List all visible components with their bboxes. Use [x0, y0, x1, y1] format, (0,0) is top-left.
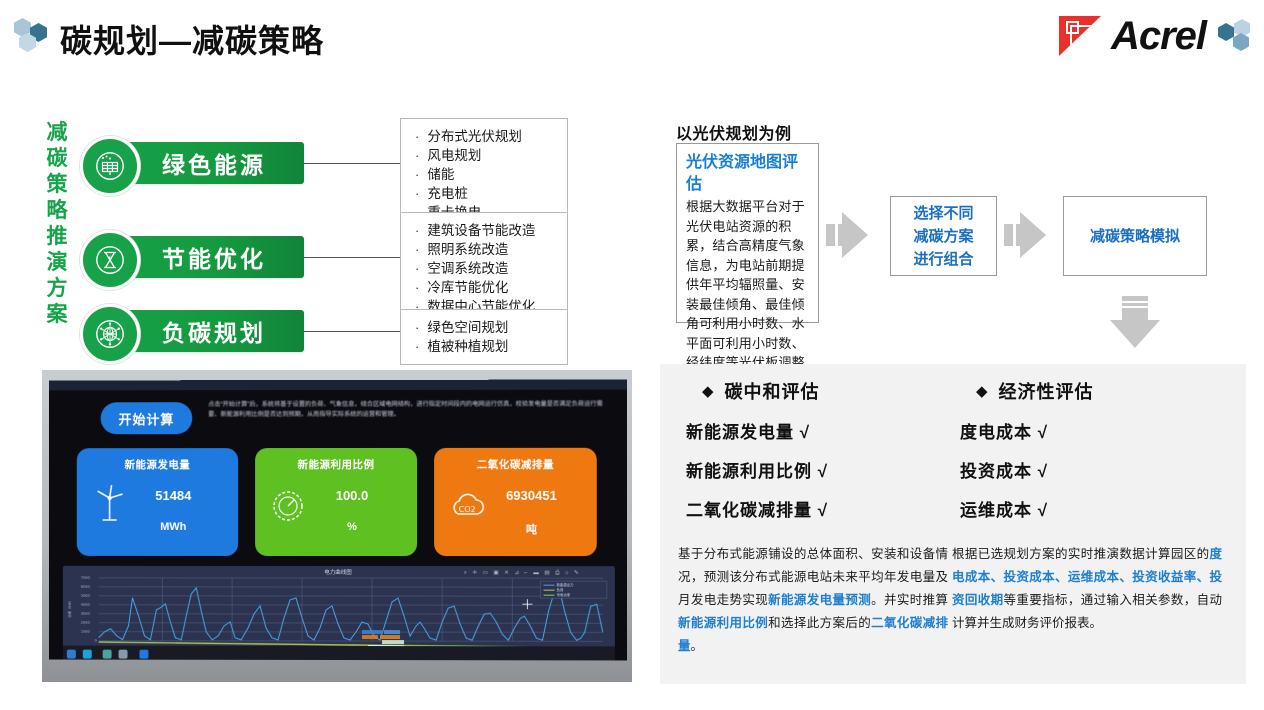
- evaluation-panel: ◆ 碳中和评估 新能源发电量 √ 新能源利用比例 √ 二氧化碳减排量 √ 基于分…: [660, 364, 1246, 684]
- svg-text:CO2: CO2: [459, 505, 476, 514]
- chart-toolbar[interactable]: ⌕ ✛ ▭ ▣ ✕ ⊿ ⌐ ▬ ▤ ⎙ ⌂ ✎: [464, 570, 581, 577]
- strategy-vertical-label: 减碳策略推演方案: [44, 120, 70, 328]
- list-item: ·照明系统改造: [415, 240, 557, 259]
- flow-step-heading: 光伏资源地图评估: [686, 152, 809, 196]
- power-curve-chart: 电力曲线图 ⌕ ✛ ▭ ▣ ✕ ⊿ ⌐ ▬ ▤ ⎙ ⌂ ✎: [63, 566, 615, 661]
- list-item-label: 照明系统改造: [427, 240, 508, 259]
- list-item: ·空调系统改造: [415, 259, 557, 278]
- bullet-dot-icon: ·: [415, 240, 419, 259]
- evaluation-column-carbon: ◆ 碳中和评估 新能源发电量 √ 新能源利用比例 √ 二氧化碳减排量 √ 基于分…: [678, 378, 948, 658]
- paragraph-text: 。并实时推算: [871, 593, 948, 607]
- kpi-card-co2-reduction: 二氧化碳减排量 CO2 6930451 吨: [434, 448, 597, 556]
- brand-name: Acrel: [1111, 14, 1206, 59]
- bullet-list: ·绿色空间规划 ·植被种植规划: [415, 318, 557, 356]
- globe-network-icon: [80, 304, 140, 364]
- kpi-unit: MWh: [160, 521, 186, 533]
- strategy-bar-label: 绿色能源: [154, 146, 304, 180]
- kpi-value: 6930451: [506, 488, 557, 503]
- monitor-photo: 开始计算 点击“开始计算”后，系统将基于设置的负荷、气象信息，结合区域电网结构，…: [42, 370, 632, 682]
- windows-taskbar[interactable]: [63, 646, 615, 661]
- strategy-bar-label: 负碳规划: [154, 314, 304, 348]
- evaluation-item: 运维成本 √: [960, 496, 1222, 521]
- brand-logo: Acrel: [1059, 12, 1252, 60]
- evaluation-item: 度电成本 √: [960, 418, 1222, 443]
- hexagon-cluster-icon: [14, 18, 54, 52]
- svg-text:0: 0: [95, 639, 98, 643]
- co2-cloud-icon: CO2: [448, 482, 486, 526]
- monitor-screen: 开始计算 点击“开始计算”后，系统将基于设置的负荷、气象信息，结合区域电网结构，…: [49, 380, 627, 661]
- evaluation-paragraph: 基于分布式能源铺设的总体面积、安装和设备情况，预测该分布式能源电站未来平均年发电…: [678, 543, 948, 658]
- kpi-unit: %: [347, 521, 357, 533]
- bullet-dot-icon: ·: [415, 221, 419, 240]
- evaluation-heading-label: 经济性评估: [999, 378, 1094, 404]
- list-item-label: 植被种植规划: [427, 337, 508, 356]
- flow-step-line: 进行组合: [913, 248, 973, 271]
- evaluation-heading: ◆ 碳中和评估: [702, 378, 948, 404]
- bullet-list: ·分布式光伏规划 ·风电规划 ·储能 ·充电桩 ·重卡换电: [415, 127, 557, 222]
- bullet-dot-icon: ·: [415, 278, 419, 297]
- svg-text:负荷: 负荷: [557, 587, 564, 592]
- list-item-label: 冷库节能优化: [427, 278, 508, 297]
- kpi-card-new-energy-generation: 新能源发电量 51484 MWh: [77, 448, 238, 556]
- svg-text:功率（kW）: 功率（kW）: [67, 599, 72, 618]
- strategy-bar-negative-carbon[interactable]: 负碳规划: [92, 310, 304, 352]
- bullet-dot-icon: ·: [415, 184, 419, 203]
- list-item-label: 空调系统改造: [427, 259, 508, 278]
- evaluation-heading: ◆ 经济性评估: [976, 378, 1222, 404]
- connector-line: [304, 163, 400, 164]
- kpi-title: 新能源发电量: [125, 457, 191, 472]
- arrow-right-icon: [1004, 212, 1046, 258]
- svg-text:6000: 6000: [81, 585, 91, 589]
- kpi-title: 二氧化碳减排量: [477, 457, 554, 472]
- evaluation-item: 新能源发电量 √: [686, 418, 948, 443]
- list-item-label: 分布式光伏规划: [427, 127, 522, 146]
- kpi-unit: 吨: [526, 521, 537, 537]
- evaluation-item: 投资成本 √: [960, 457, 1222, 482]
- evaluation-heading-label: 碳中和评估: [725, 378, 820, 404]
- evaluation-item: 新能源利用比例 √: [686, 457, 948, 482]
- evaluation-paragraph: 根据已选规划方案的实时推演数据计算园区的度电成本、投资成本、运维成本、投资收益率…: [952, 543, 1222, 635]
- flow-step-strategy-simulation: 减碳策略模拟: [1063, 196, 1207, 276]
- kpi-card-new-energy-ratio: 新能源利用比例 100.0 %: [255, 448, 417, 556]
- paragraph-text: 。: [691, 639, 704, 653]
- flow-title: 以光伏规划为例: [676, 120, 792, 144]
- svg-text:2000: 2000: [81, 621, 91, 625]
- svg-text:3000: 3000: [81, 612, 91, 616]
- paragraph-text: 根据已选规划方案的实时推演数据计算园区的: [952, 547, 1209, 561]
- flow-step-line: 减碳方案: [913, 225, 973, 248]
- diamond-icon: ◆: [702, 382, 715, 400]
- bullet-list: ·建筑设备节能改造 ·照明系统改造 ·空调系统改造 ·冷库节能优化 ·数据中心节…: [415, 221, 557, 316]
- evaluation-column-economic: ◆ 经济性评估 度电成本 √ 投资成本 √ 运维成本 √ 根据已选规划方案的实时…: [952, 378, 1222, 635]
- list-item: ·冷库节能优化: [415, 278, 557, 297]
- arrow-right-icon: [826, 212, 868, 258]
- bullet-dot-icon: ·: [415, 165, 419, 184]
- bullet-dot-icon: ·: [415, 259, 419, 278]
- bullet-dot-icon: ·: [415, 318, 419, 337]
- calculation-note: 点击“开始计算”后，系统将基于设置的负荷、气象信息，结合区域电网结构，进行指定时…: [208, 400, 609, 421]
- wind-turbine-icon: [91, 482, 129, 526]
- brand-hexagon-icon: [1218, 19, 1252, 53]
- highlighted-term: 新能源利用比例: [678, 616, 768, 630]
- evaluation-item: 二氧化碳减排量 √: [686, 496, 948, 521]
- kpi-value: 51484: [155, 488, 191, 503]
- connector-line: [304, 257, 400, 258]
- svg-text:1000: 1000: [81, 630, 91, 634]
- connector-line: [304, 331, 400, 332]
- kpi-row: 新能源发电量 51484 MWh: [77, 448, 597, 556]
- start-calculation-button[interactable]: 开始计算: [101, 402, 193, 434]
- list-item-label: 储能: [427, 165, 454, 184]
- list-item: ·储能: [415, 165, 557, 184]
- kpi-value: 100.0: [336, 488, 369, 503]
- list-item-label: 绿色空间规划: [427, 318, 508, 337]
- flow-step-body: 根据大数据平台对于光伏电站资源的积累，结合高精度气象信息，为电站前期提供年平均辐…: [686, 197, 809, 392]
- paragraph-text: 和选择此方案后的: [768, 616, 871, 630]
- app-titlebar: [49, 380, 627, 391]
- list-item: ·绿色空间规划: [415, 318, 557, 337]
- strategy-bar-label: 节能优化: [154, 240, 304, 274]
- slide-root: 碳规划—减碳策略 Acrel 减碳策略推演方案: [0, 0, 1264, 710]
- strategy-bar-green-energy[interactable]: 绿色能源: [92, 142, 304, 184]
- svg-text:7000: 7000: [81, 576, 91, 580]
- list-item: ·建筑设备节能改造: [415, 221, 557, 240]
- hourglass-energy-icon: [80, 230, 140, 290]
- bullet-dot-icon: ·: [415, 127, 419, 146]
- flow-step-pv-assessment: 光伏资源地图评估 根据大数据平台对于光伏电站资源的积累，结合高精度气象信息，为电…: [676, 143, 819, 323]
- list-item-label: 建筑设备节能改造: [427, 221, 535, 240]
- bullet-box-negative-carbon: ·绿色空间规划 ·植被种植规划: [400, 309, 568, 365]
- acrel-square-icon: [1059, 16, 1101, 56]
- svg-text:新能源出力: 新能源出力: [557, 582, 575, 587]
- list-item-label: 风电规划: [427, 146, 481, 165]
- solar-panel-icon: [80, 136, 140, 196]
- kpi-title: 新能源利用比例: [298, 457, 375, 472]
- arrow-down-icon: [1110, 288, 1160, 354]
- svg-text:4000: 4000: [81, 603, 91, 607]
- flow-step-combine-plans: 选择不同 减碳方案 进行组合: [890, 196, 997, 276]
- list-item: ·植被种植规划: [415, 337, 557, 356]
- list-item: ·充电桩: [415, 184, 557, 203]
- strategy-bar-energy-saving[interactable]: 节能优化: [92, 236, 304, 278]
- bullet-dot-icon: ·: [415, 337, 419, 356]
- chart-title: 电力曲线图: [324, 568, 352, 576]
- bullet-dot-icon: ·: [415, 146, 419, 165]
- list-item: ·风电规划: [415, 146, 557, 165]
- svg-text:市电功率: 市电功率: [557, 592, 571, 597]
- list-item: ·分布式光伏规划: [415, 127, 557, 146]
- gauge-icon: [269, 482, 307, 526]
- page-title: 碳规划—减碳策略: [60, 16, 324, 62]
- svg-text:5000: 5000: [81, 594, 91, 598]
- list-item-label: 充电桩: [427, 184, 468, 203]
- highlighted-term: 新能源发电量预测: [768, 593, 871, 607]
- flow-step-label: 减碳策略模拟: [1090, 225, 1180, 248]
- flow-step-line: 选择不同: [913, 202, 973, 225]
- diamond-icon: ◆: [976, 382, 989, 400]
